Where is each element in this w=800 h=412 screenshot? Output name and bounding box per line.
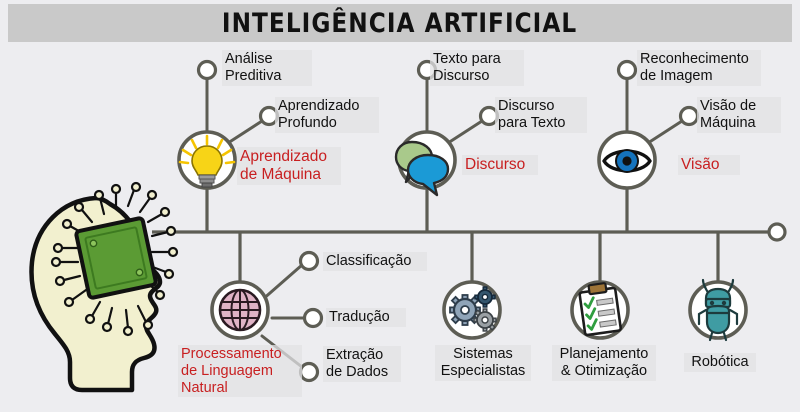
sub-label-traducao: Tradução bbox=[326, 308, 406, 327]
branch-icon-machine-learning[interactable] bbox=[179, 132, 235, 188]
sub-label-aprendizado-profundo: Aprendizado Profundo bbox=[275, 97, 379, 133]
branch-label-nlp: Processamento de Linguagem Natural bbox=[178, 345, 302, 397]
connector-lines bbox=[152, 188, 776, 282]
eye-icon bbox=[604, 150, 650, 172]
infographic-root: Inteligência Artificial bbox=[0, 0, 800, 412]
branch-label-vision: Visão bbox=[678, 155, 740, 175]
branch-label-machine-learning: Aprendizado de Máquina bbox=[237, 147, 341, 185]
branch-icon-speech[interactable] bbox=[396, 132, 455, 195]
sub-label-classificacao: Classificação bbox=[323, 252, 427, 271]
sub-label-extracao-dados: Extração de Dados bbox=[323, 346, 401, 382]
sub-line-classificacao bbox=[262, 265, 302, 300]
sub-label-visao-maquina: Visão de Máquina bbox=[697, 97, 781, 133]
sub-label-analise-preditiva: Análise Preditiva bbox=[222, 50, 312, 86]
globe-icon bbox=[220, 290, 260, 330]
node-reconhecimento-imagem bbox=[619, 62, 636, 79]
sub-line-discurso-para-texto bbox=[448, 121, 482, 143]
branch-label-expert-systems: Sistemas Especialistas bbox=[435, 345, 531, 381]
branch-label-speech: Discurso bbox=[462, 155, 538, 175]
microchip bbox=[76, 218, 157, 299]
node-analise-preditiva bbox=[199, 62, 216, 79]
sub-label-discurso-para-texto: Discurso para Texto bbox=[495, 97, 587, 133]
branch-label-robotics: Robótica bbox=[684, 353, 756, 372]
node-visao-maquina bbox=[681, 108, 698, 125]
node-extracao-dados bbox=[301, 364, 318, 381]
branch-icon-robotics[interactable] bbox=[690, 280, 746, 340]
branch-icon-planning-optimization[interactable] bbox=[572, 282, 628, 338]
node-traducao bbox=[305, 310, 322, 327]
branch-icon-vision[interactable] bbox=[599, 132, 655, 188]
sub-label-reconhecimento-imagem: Reconhecimento de Imagem bbox=[637, 50, 761, 86]
sub-line-aprendizado-profundo bbox=[228, 121, 262, 143]
sub-label-texto-para-discurso: Texto para Discurso bbox=[430, 50, 524, 86]
branch-label-planning-optimization: Planejamento & Otimização bbox=[552, 345, 656, 381]
sub-line-visao-maquina bbox=[648, 121, 682, 143]
node-spine-terminus bbox=[769, 224, 785, 240]
head-with-chip-icon bbox=[32, 183, 177, 390]
node-classificacao bbox=[301, 253, 318, 270]
branch-icon-expert-systems[interactable] bbox=[444, 282, 500, 338]
branch-icon-nlp[interactable] bbox=[212, 282, 268, 338]
